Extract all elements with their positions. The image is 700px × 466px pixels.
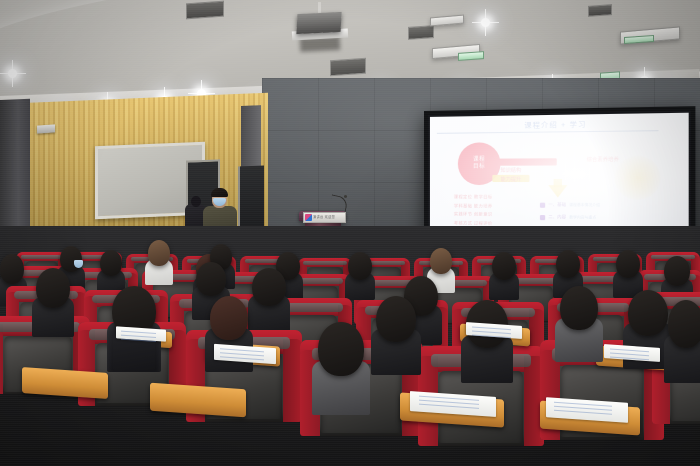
audience-member-head (252, 268, 286, 306)
audience-member-head (100, 250, 122, 276)
audience-member (668, 300, 700, 382)
paper-text-line (121, 331, 156, 334)
audience-area (0, 226, 700, 466)
slide-pink-bar (496, 158, 556, 165)
seat-trim-l (0, 324, 3, 394)
paper-text-line (472, 330, 511, 334)
audience-member-head (628, 290, 668, 336)
paper-text-line (610, 352, 649, 356)
slide-bullet-label: 一、基础 (548, 202, 566, 208)
slide-bullet-detail: 课程基本情况介绍 (569, 202, 600, 207)
slide-bullet-detail: 教学内容与重点 (569, 215, 596, 220)
ceiling-downlight (8, 69, 17, 78)
slide-bullet-item: 一、基础课程基本情况介绍 (540, 202, 600, 209)
audience-member (560, 286, 598, 361)
handout-paper[interactable] (116, 326, 166, 341)
audience-member (252, 268, 286, 333)
audience-member-head (616, 250, 640, 278)
podium-nameplate: 演讲台 欢迎您 (303, 212, 346, 223)
audience-member-head (0, 254, 24, 284)
audience-member-head (36, 268, 70, 308)
slide-note-line: 学科基础 能力培养 (454, 203, 496, 209)
slide-circle-line-1: 课程 (473, 157, 485, 163)
ceiling-air-vent (330, 58, 366, 77)
institution-logo-icon (305, 214, 312, 221)
projector-icon (296, 12, 341, 34)
slide-subtitle-2: 能力提升 (501, 176, 522, 183)
paper-text-line (121, 335, 156, 338)
microphone-head-icon (344, 195, 347, 198)
slide-note-line: 实践环节 创新意识 (454, 211, 496, 217)
paper-text-line (610, 348, 649, 352)
audience-member (376, 296, 416, 374)
seat-gray-cap (303, 261, 346, 265)
audience-member (348, 252, 372, 300)
podium-nameplate-line-1: 演讲台 欢迎您 (313, 216, 335, 220)
slide-bullet-label: 二、内容 (548, 214, 566, 220)
audience-member-head (210, 296, 248, 340)
audience-member-head (668, 300, 700, 348)
slide-sun-glow (615, 156, 661, 201)
slide-right-label: 综合素养培养 (587, 156, 619, 163)
wall-speaker-icon (37, 124, 55, 133)
lecture-hall-photo: 课程介绍 + 学习 课程 目标 知识结构 能力提升 综合素养培养 课程定位 教学… (0, 0, 700, 466)
seat-gray-cap (21, 255, 61, 259)
audience-member-head (376, 296, 416, 342)
paper-text-line (220, 348, 263, 352)
audience-member-head (560, 286, 598, 330)
audience-member-head (318, 322, 364, 376)
paper-text-line (554, 410, 611, 415)
paper-text-line (220, 356, 263, 360)
audience-member (148, 240, 170, 284)
audience-member-head (492, 252, 516, 280)
audience-member-head (348, 252, 372, 280)
slide-circle-line-2: 目标 (473, 165, 485, 171)
audience-member-head (196, 262, 226, 296)
presenter-hair (211, 188, 228, 197)
down-arrow-icon (548, 185, 567, 197)
ceiling-downlight (481, 18, 490, 27)
slide-note-line: 课程定位 教学目标 (454, 194, 496, 200)
paper-text-line (220, 352, 263, 356)
bullet-square-icon (540, 202, 545, 207)
audience-member (318, 322, 364, 414)
slide-title: 课程介绍 + 学习 (524, 120, 586, 131)
paper-text-line (419, 404, 479, 409)
audience-member-head (148, 240, 170, 266)
bullet-square-icon (540, 214, 545, 219)
paper-text-line (472, 326, 511, 330)
audience-member-head (664, 256, 690, 286)
slide-divider (437, 130, 658, 134)
slide-bullet-item: 二、内容教学内容与重点 (540, 214, 600, 221)
audience-member-head (556, 250, 580, 278)
audience-member (36, 268, 70, 336)
ceiling-air-vent (408, 25, 434, 40)
ceiling-air-vent (186, 1, 224, 20)
ceiling-air-vent (588, 4, 612, 17)
audience-member (492, 252, 516, 300)
assistant-head (191, 196, 201, 207)
audience-member (466, 300, 508, 382)
slide-subtitle-1: 知识结构 (501, 167, 522, 174)
audience-member-head (430, 248, 452, 274)
